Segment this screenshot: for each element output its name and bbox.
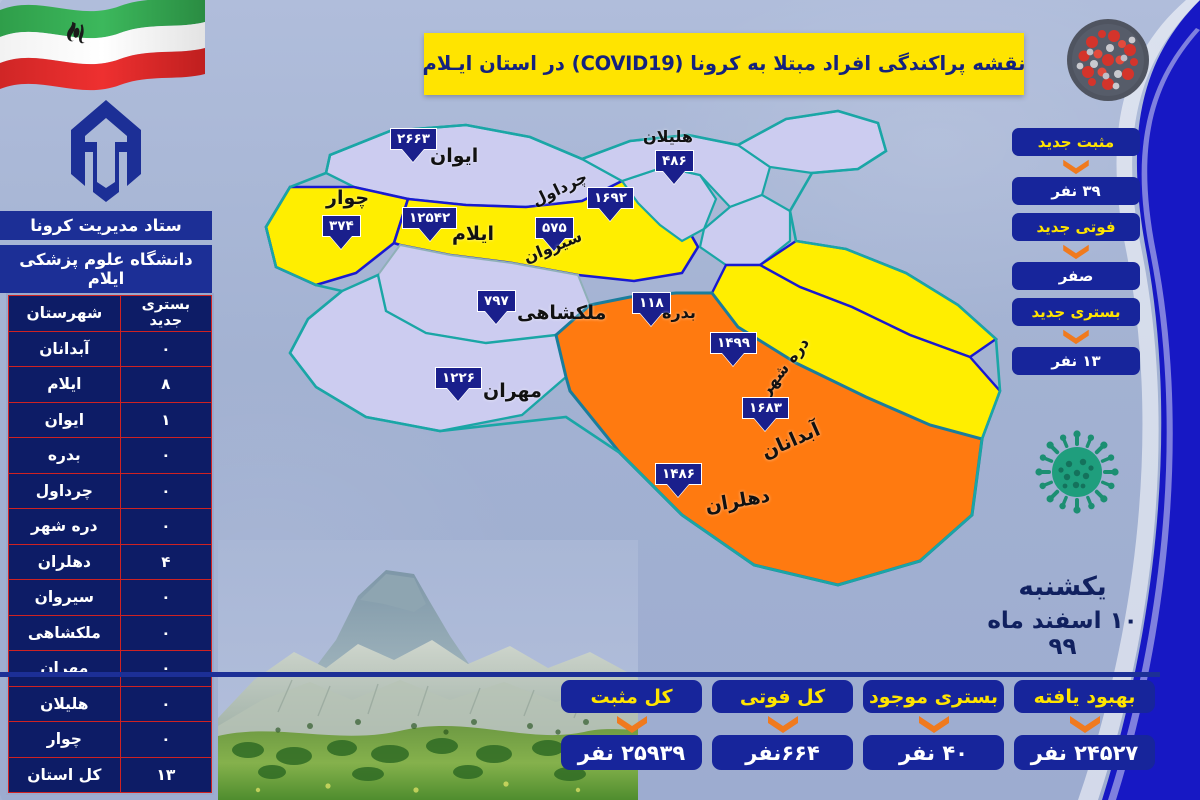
table-row: ۰آبدانان <box>9 331 212 367</box>
page-title-banner: نقشه پراکندگی افراد مبتلا به کرونا (COVI… <box>424 33 1024 95</box>
table-cell-value: ۴ <box>120 544 211 580</box>
arrow-down-icon-wrap <box>1012 243 1140 260</box>
table-cell-county: آبدانان <box>9 331 121 367</box>
column-header-new-admitted: بستری جدید <box>120 296 211 332</box>
total-stat-value: ۲۴۵۲۷ نفر <box>1014 735 1155 770</box>
table-row: ۱ایوان <box>9 402 212 438</box>
table-cell-value: ۰ <box>120 438 211 474</box>
arrow-down-icon <box>615 714 649 734</box>
new-stat-value: صفر <box>1012 262 1140 290</box>
table-cell-county: ملکشاهی <box>9 615 121 651</box>
table-row: ۰مهران <box>9 651 212 687</box>
map-svg <box>230 95 1020 615</box>
total-stat-label: بهبود یافته <box>1014 680 1155 713</box>
total-stat-value: ۴۰ نفر <box>863 735 1004 770</box>
arrow-down-icon-wrap <box>1012 158 1140 175</box>
table-cell-value: ۰ <box>120 509 211 545</box>
table-row: ۰بدره <box>9 438 212 474</box>
table-row: ۰هلیلان <box>9 686 212 722</box>
table-cell-county: بدره <box>9 438 121 474</box>
iran-flag-icon <box>0 0 205 101</box>
arrow-down-icon <box>1061 243 1091 260</box>
allah-emblem-icon <box>0 96 212 206</box>
table-cell-value: ۰ <box>120 651 211 687</box>
page-title: نقشه پراکندگی افراد مبتلا به کرونا (COVI… <box>423 53 1026 75</box>
table-row: ۰سیروان <box>9 580 212 616</box>
new-stat-value: ۱۳ نفر <box>1012 347 1140 375</box>
report-date: یکشنبه ۱۰ اسفند ماه ۹۹ <box>975 572 1150 660</box>
table-cell-county: چوار <box>9 722 121 758</box>
arrow-down-icon <box>1061 158 1091 175</box>
new-admissions-table: بستری جدید شهرستان ۰آبدانان۸ایلام۱ایوان۰… <box>8 295 212 793</box>
arrow-down-icon <box>1068 714 1102 734</box>
total-stat-label: بستری موجود <box>863 680 1004 713</box>
arrow-down-icon-wrap <box>1012 328 1140 345</box>
new-stat-label: فوتی جدید <box>1012 213 1140 241</box>
column-header-county: شهرستان <box>9 296 121 332</box>
new-stat-label: بستری جدید <box>1012 298 1140 326</box>
table-cell-county: دره شهر <box>9 509 121 545</box>
logo-line-2: دانشگاه علوم پزشکی ایلام <box>0 245 212 293</box>
table-cell-value: ۰ <box>120 722 211 758</box>
total-stat-label: کل مثبت <box>561 680 702 713</box>
table-cell-value: ۱۳ <box>120 757 211 793</box>
coronavirus-green-icon <box>1035 430 1119 514</box>
logo-line-1: ستاد مدیریت کرونا <box>0 211 212 240</box>
total-stat-value: ۲۵۹۳۹ نفر <box>561 735 702 770</box>
arrow-down-icon <box>1061 328 1091 345</box>
table-cell-county: هلیلان <box>9 686 121 722</box>
table-cell-county: ایلام <box>9 367 121 403</box>
table-cell-county: سیروان <box>9 580 121 616</box>
table-row: ۰ملکشاهی <box>9 615 212 651</box>
table-cell-value: ۰ <box>120 473 211 509</box>
table-header-row: بستری جدید شهرستان <box>9 296 212 332</box>
table-row: ۴دهلران <box>9 544 212 580</box>
table-cell-value: ۱ <box>120 402 211 438</box>
spacer <box>1012 205 1140 213</box>
table-cell-county: کل استان <box>9 757 121 793</box>
organization-logo-panel: ستاد مدیریت کرونا دانشگاه علوم پزشکی ایل… <box>0 96 212 293</box>
table-row: ۸ایلام <box>9 367 212 403</box>
new-stat-value: ۳۹ نفر <box>1012 177 1140 205</box>
total-stat-column: کل فوتی۶۶۴نفر <box>712 680 853 790</box>
table-cell-county: چرداول <box>9 473 121 509</box>
table-cell-county: ایوان <box>9 402 121 438</box>
table-cell-value: ۸ <box>120 367 211 403</box>
table-row: ۰دره شهر <box>9 509 212 545</box>
table-cell-value: ۰ <box>120 615 211 651</box>
table-cell-county: مهران <box>9 651 121 687</box>
total-stat-column: بستری موجود۴۰ نفر <box>863 680 1004 790</box>
coronavirus-icon <box>1062 14 1154 106</box>
total-stat-column: کل مثبت۲۵۹۳۹ نفر <box>561 680 702 790</box>
new-stat-label: مثبت جدید <box>1012 128 1140 156</box>
report-date-full: ۱۰ اسفند ماه ۹۹ <box>975 608 1150 660</box>
ilam-province-map[interactable]: ۲۶۶۳ ایوان ۳۷۴ چوار ۱۲۵۴۲ ایلام ۱۶۹۲ چرد… <box>230 95 1020 615</box>
table-cell-county: دهلران <box>9 544 121 580</box>
spacer <box>1012 290 1140 298</box>
bottom-divider <box>0 672 1160 677</box>
arrow-down-icon <box>917 714 951 734</box>
new-cases-summary-panel: مثبت جدید۳۹ نفرفوتی جدیدصفربستری جدید۱۳ … <box>1012 128 1140 375</box>
total-stat-value: ۶۶۴نفر <box>712 735 853 770</box>
province-totals-panel: بهبود یافته۲۴۵۲۷ نفربستری موجود۴۰ نفرکل … <box>555 680 1155 790</box>
total-stat-column: بهبود یافته۲۴۵۲۷ نفر <box>1014 680 1155 790</box>
table-cell-value: ۰ <box>120 686 211 722</box>
total-stat-label: کل فوتی <box>712 680 853 713</box>
table-cell-value: ۰ <box>120 331 211 367</box>
arrow-down-icon <box>766 714 800 734</box>
report-weekday: یکشنبه <box>975 572 1150 602</box>
table-row: ۰چرداول <box>9 473 212 509</box>
table-row: ۰چوار <box>9 722 212 758</box>
table-cell-value: ۰ <box>120 580 211 616</box>
table-row: ۱۳کل استان <box>9 757 212 793</box>
